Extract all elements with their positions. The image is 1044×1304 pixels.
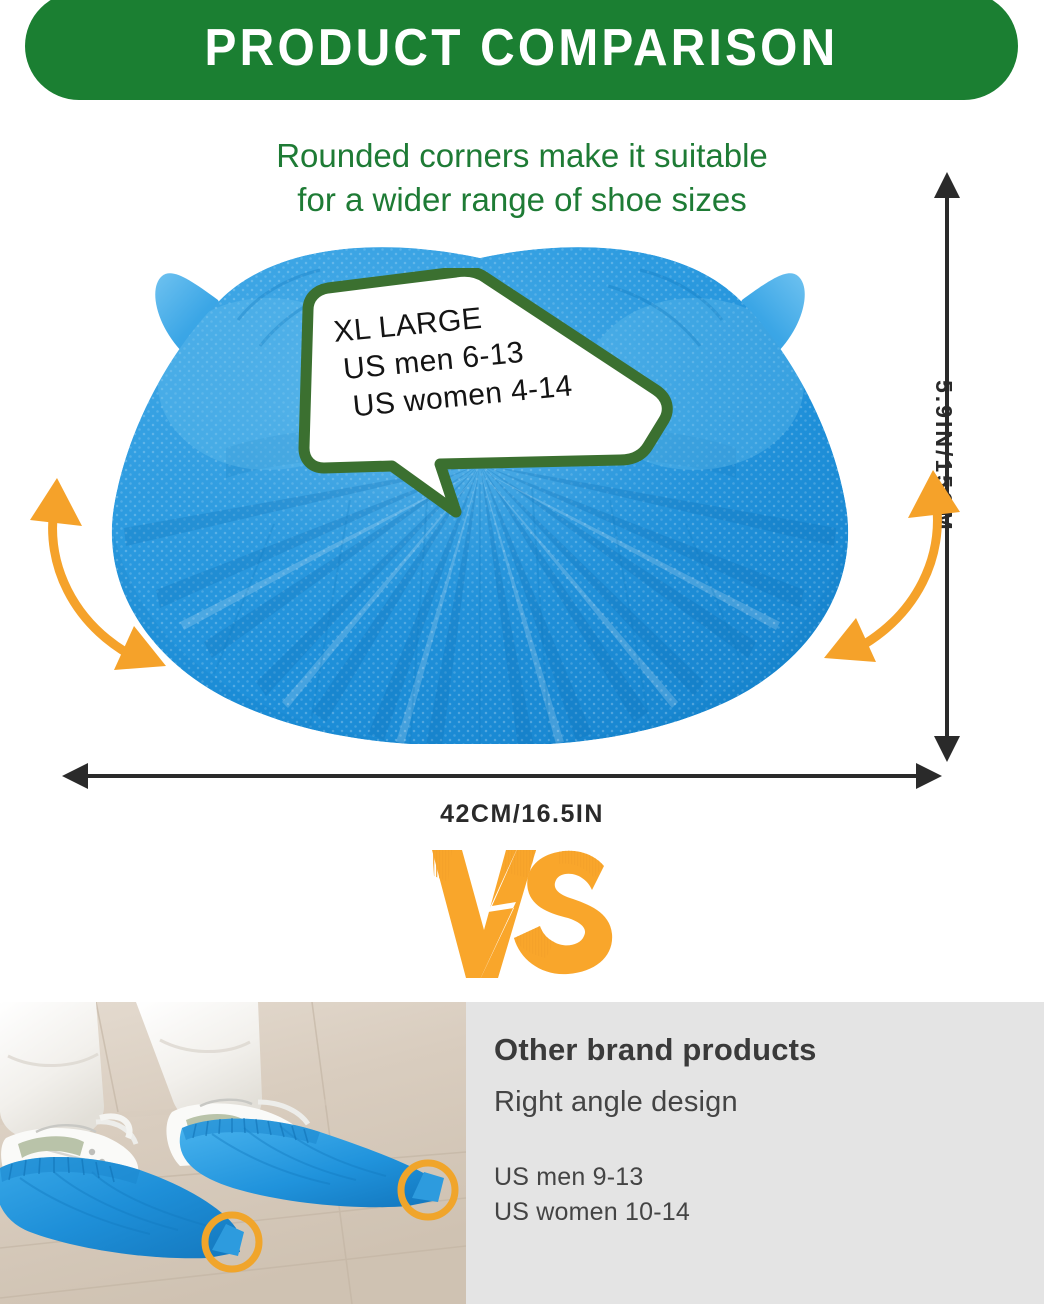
dimension-line-horizontal — [62, 760, 942, 792]
flex-arrow-left-icon — [24, 464, 192, 676]
competitor-size-women: US women 10-14 — [494, 1195, 1044, 1230]
subtitle-line-1: Rounded corners make it suitable — [0, 134, 1044, 178]
competitor-title: Other brand products — [494, 1030, 1044, 1070]
size-callout-bubble: XL LARGE US men 6-13 US women 4-14 — [288, 268, 688, 518]
competitor-size-men: US men 9-13 — [494, 1160, 1044, 1195]
dimension-label-width: 42CM/16.5IN — [0, 800, 1044, 829]
header-banner: PRODUCT COMPARISON — [25, 0, 1018, 100]
competitor-product-photo — [0, 1002, 466, 1304]
versus-badge — [418, 838, 628, 988]
competitor-sizes: US men 9-13 US women 10-14 — [494, 1160, 1044, 1230]
page-title: PRODUCT COMPARISON — [205, 18, 839, 74]
competitor-comparison-section: Other brand products Right angle design … — [0, 1002, 1044, 1304]
flex-arrow-right-icon — [798, 456, 966, 668]
competitor-info-panel: Other brand products Right angle design … — [466, 1002, 1044, 1304]
competitor-subtitle: Right angle design — [494, 1082, 1044, 1122]
subtitle-text: Rounded corners make it suitable for a w… — [0, 134, 1044, 222]
subtitle-line-2: for a wider range of shoe sizes — [0, 178, 1044, 222]
